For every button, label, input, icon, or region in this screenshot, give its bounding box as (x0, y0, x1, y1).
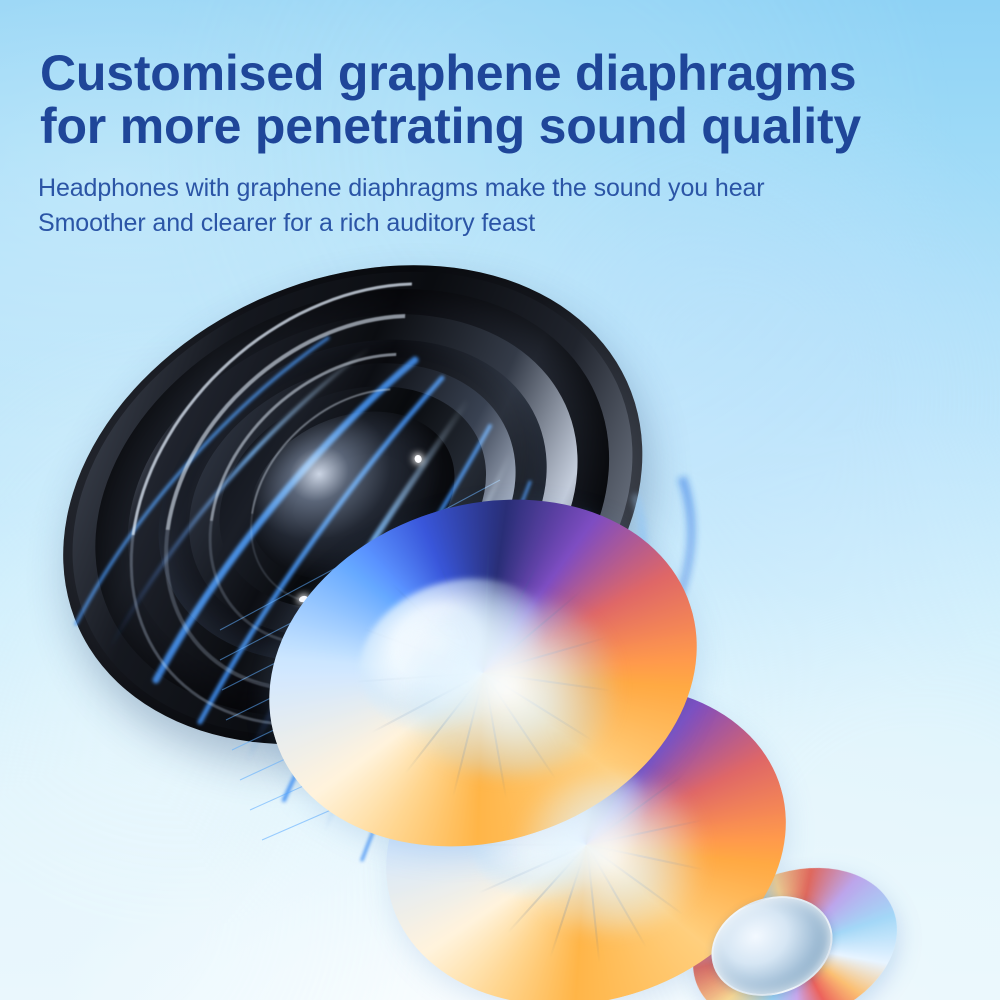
copy-block: Customised graphene diaphragms for more … (0, 0, 1000, 241)
page-subtitle-line-1: Headphones with graphene diaphragms make… (38, 171, 1000, 206)
page-title: Customised graphene diaphragms for more … (0, 0, 1000, 153)
diaphragm-glow-lower (510, 776, 710, 932)
page-title-line-1: Customised graphene diaphragms (40, 0, 1000, 100)
page-title-line-2: for more penetrating sound quality (40, 100, 1000, 153)
page-subtitle-line-2: Smoother and clearer for a rich auditory… (38, 206, 1000, 241)
diaphragm-glow-upper (392, 596, 622, 776)
banner-canvas: Customised graphene diaphragms for more … (0, 0, 1000, 1000)
page-subtitle: Headphones with graphene diaphragms make… (0, 153, 1000, 241)
